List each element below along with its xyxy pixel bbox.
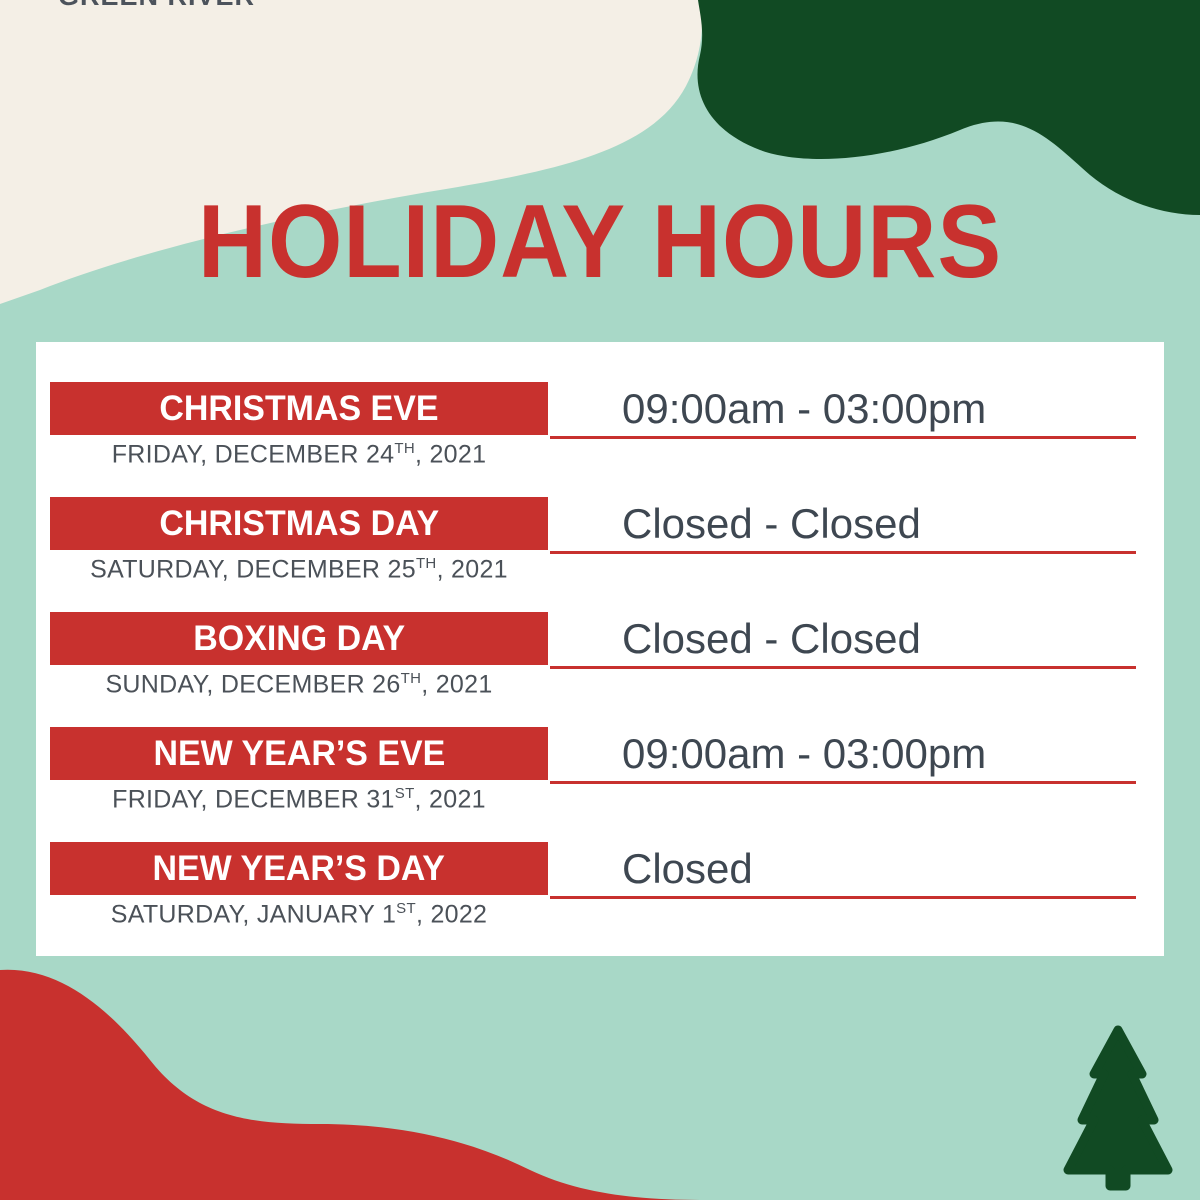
holiday-name: NEW YEAR’S EVE [153, 736, 445, 772]
holiday-name: BOXING DAY [193, 621, 405, 657]
date-ordinal-suffix: TH [394, 440, 415, 457]
holiday-name: CHRISTMAS DAY [159, 506, 439, 542]
holiday-date: FRIDAY, DECEMBER 31ST, 2021 [112, 785, 486, 814]
table-row: CHRISTMAS DAY SATURDAY, DECEMBER 25TH, 2… [36, 497, 1164, 612]
holiday-date: SUNDAY, DECEMBER 26TH, 2021 [105, 670, 492, 699]
holiday-name-block: BOXING DAY [50, 612, 548, 665]
holiday-name-block: NEW YEAR’S EVE [50, 727, 548, 780]
table-row: NEW YEAR’S DAY SATURDAY, JANUARY 1ST, 20… [36, 842, 1164, 957]
holiday-date: SATURDAY, DECEMBER 25TH, 2021 [90, 555, 508, 584]
holiday-name-block: CHRISTMAS EVE [50, 382, 548, 435]
date-ordinal-suffix: ST [396, 900, 416, 917]
holiday-hours: Closed [550, 847, 753, 891]
holiday-name: CHRISTMAS EVE [159, 391, 438, 427]
holiday-hours-cell: 09:00am - 03:00pm [550, 382, 1136, 439]
holiday-hours: Closed - Closed [550, 617, 921, 661]
holiday-date: SATURDAY, JANUARY 1ST, 2022 [111, 900, 488, 929]
holiday-hours: Closed - Closed [550, 502, 921, 546]
holiday-hours-cell: Closed - Closed [550, 497, 1136, 554]
table-row: NEW YEAR’S EVE FRIDAY, DECEMBER 31ST, 20… [36, 727, 1164, 842]
holiday-name-block: NEW YEAR’S DAY [50, 842, 548, 895]
holiday-hours: 09:00am - 03:00pm [550, 732, 986, 776]
holiday-date-line: FRIDAY, DECEMBER 24TH, 2021 [50, 435, 548, 475]
holiday-name: NEW YEAR’S DAY [153, 851, 445, 887]
schedule-card: CHRISTMAS EVE FRIDAY, DECEMBER 24TH, 202… [36, 342, 1164, 956]
holiday-hours-cell: 09:00am - 03:00pm [550, 727, 1136, 784]
table-row: CHRISTMAS EVE FRIDAY, DECEMBER 24TH, 202… [36, 382, 1164, 497]
holiday-hours-cell: Closed - Closed [550, 612, 1136, 669]
date-ordinal-suffix: ST [395, 785, 415, 802]
holiday-name-block: CHRISTMAS DAY [50, 497, 548, 550]
brand-wordmark-text: GREEN RIVER [58, 0, 478, 9]
holiday-date-line: SUNDAY, DECEMBER 26TH, 2021 [50, 665, 548, 705]
holiday-hours-poster: GREEN RIVER HOLIDAY HOURS CHRISTMAS EVE … [0, 0, 1200, 1200]
brand-wordmark-clipped: GREEN RIVER [58, 0, 478, 9]
date-ordinal-suffix: TH [401, 670, 422, 687]
table-row: BOXING DAY SUNDAY, DECEMBER 26TH, 2021 C… [36, 612, 1164, 727]
holiday-hours: 09:00am - 03:00pm [550, 387, 986, 431]
holiday-date: FRIDAY, DECEMBER 24TH, 2021 [112, 440, 487, 469]
holiday-date-line: SATURDAY, DECEMBER 25TH, 2021 [50, 550, 548, 590]
holiday-date-line: SATURDAY, JANUARY 1ST, 2022 [50, 895, 548, 935]
holiday-hours-cell: Closed [550, 842, 1136, 899]
holiday-date-line: FRIDAY, DECEMBER 31ST, 2021 [50, 780, 548, 820]
date-ordinal-suffix: TH [416, 555, 437, 572]
christmas-tree-icon [1058, 1018, 1178, 1194]
page-title: HOLIDAY HOURS [48, 186, 1152, 298]
